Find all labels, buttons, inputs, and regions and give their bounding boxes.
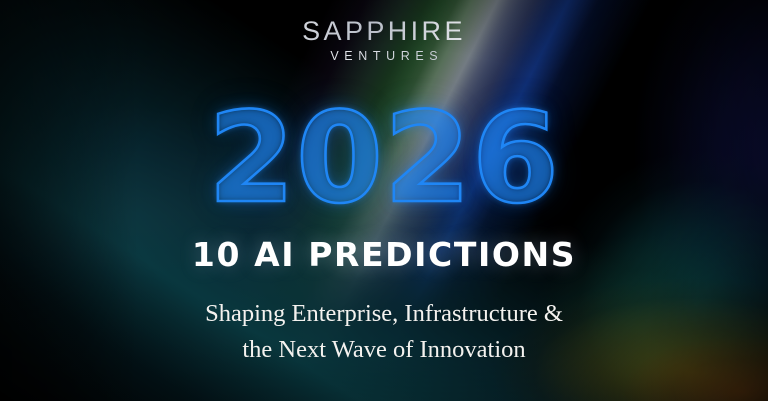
subtitle: Shaping Enterprise, Infrastructure & the…: [0, 296, 768, 368]
page-title: 10 AI PREDICTIONS: [0, 238, 768, 271]
logo-wordmark: SAPPHIRE: [0, 18, 768, 45]
sapphire-ventures-logo: SAPPHIRE VENTURES: [0, 18, 768, 63]
poster-content: SAPPHIRE VENTURES 2026 10 AI PREDICTIONS…: [0, 0, 768, 401]
year-display: 2026: [0, 96, 768, 221]
subtitle-line-2: the Next Wave of Innovation: [0, 332, 768, 368]
subtitle-line-1: Shaping Enterprise, Infrastructure &: [0, 296, 768, 332]
logo-descriptor: VENTURES: [0, 50, 768, 63]
poster-canvas: SAPPHIRE VENTURES 2026 10 AI PREDICTIONS…: [0, 0, 768, 401]
